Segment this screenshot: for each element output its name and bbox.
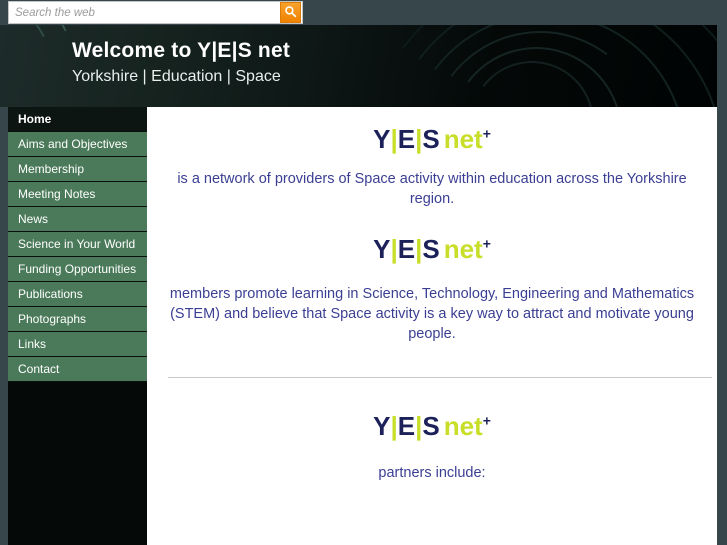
yesnet-logo: Y|E|Snet+ — [147, 124, 717, 155]
sidebar-item-label: Science in Your World — [18, 237, 135, 251]
sidebar-nav: Home Aims and Objectives Membership Meet… — [8, 107, 147, 545]
yesnet-logo: Y|E|Snet+ — [147, 411, 717, 442]
main-content: Y|E|Snet+ is a network of providers of S… — [147, 107, 717, 545]
sidebar-item-label: Links — [18, 337, 46, 351]
sidebar-item-label: Publications — [18, 287, 83, 301]
sidebar-item-news[interactable]: News — [8, 207, 147, 232]
logo-letter-y: Y — [373, 234, 390, 264]
site-banner: Welcome to Y|E|S net Yorkshire | Educati… — [0, 25, 717, 107]
logo-separator-1: | — [390, 411, 397, 441]
logo-letter-y: Y — [373, 124, 390, 154]
logo-letter-e: E — [398, 411, 415, 441]
logo-letter-s: S — [422, 124, 439, 154]
sidebar-item-label: Membership — [18, 162, 84, 176]
sidebar-item-label: Funding Opportunities — [18, 262, 136, 276]
sidebar-item-membership[interactable]: Membership — [8, 157, 147, 182]
intro-paragraph: is a network of providers of Space activ… — [169, 169, 695, 209]
sidebar-item-home[interactable]: Home — [8, 107, 147, 132]
logo-separator-1: | — [390, 124, 397, 154]
sidebar-item-label: Aims and Objectives — [18, 137, 127, 151]
logo-letter-e: E — [398, 234, 415, 264]
search-box[interactable] — [8, 1, 303, 24]
sidebar-item-label: Contact — [18, 362, 59, 376]
logo-letter-s: S — [422, 234, 439, 264]
yesnet-logo: Y|E|Snet+ — [147, 234, 717, 265]
logo-letter-e: E — [398, 124, 415, 154]
sidebar-item-meeting-notes[interactable]: Meeting Notes — [8, 182, 147, 207]
banner-subtitle: Yorkshire | Education | Space — [72, 66, 290, 88]
browser-search-toolbar — [0, 0, 727, 25]
banner-title: Welcome to Y|E|S net — [72, 38, 290, 64]
sidebar-item-label: Photographs — [18, 312, 86, 326]
sidebar-item-contact[interactable]: Contact — [8, 357, 147, 382]
search-icon — [284, 5, 297, 21]
logo-word-net: net — [444, 124, 483, 154]
partners-paragraph: partners include: — [169, 463, 695, 483]
logo-plus: + — [483, 235, 491, 251]
members-paragraph: members promote learning in Science, Tec… — [159, 284, 705, 344]
sidebar-item-label: Meeting Notes — [18, 187, 95, 201]
sidebar-item-science-in-your-world[interactable]: Science in Your World — [8, 232, 147, 257]
sidebar-item-label: News — [18, 212, 48, 226]
search-input[interactable] — [9, 2, 280, 23]
logo-letter-s: S — [422, 411, 439, 441]
logo-plus: + — [483, 125, 491, 141]
logo-plus: + — [483, 412, 491, 428]
sidebar-item-aims-and-objectives[interactable]: Aims and Objectives — [8, 132, 147, 157]
logo-word-net: net — [444, 411, 483, 441]
section-divider — [168, 377, 712, 378]
logo-letter-y: Y — [373, 411, 390, 441]
search-button[interactable] — [280, 2, 301, 23]
sidebar-item-photographs[interactable]: Photographs — [8, 307, 147, 332]
sidebar-item-label: Home — [18, 112, 51, 126]
sidebar-item-publications[interactable]: Publications — [8, 282, 147, 307]
sidebar-item-funding-opportunities[interactable]: Funding Opportunities — [8, 257, 147, 282]
sidebar-item-links[interactable]: Links — [8, 332, 147, 357]
logo-separator-1: | — [390, 234, 397, 264]
logo-word-net: net — [444, 234, 483, 264]
